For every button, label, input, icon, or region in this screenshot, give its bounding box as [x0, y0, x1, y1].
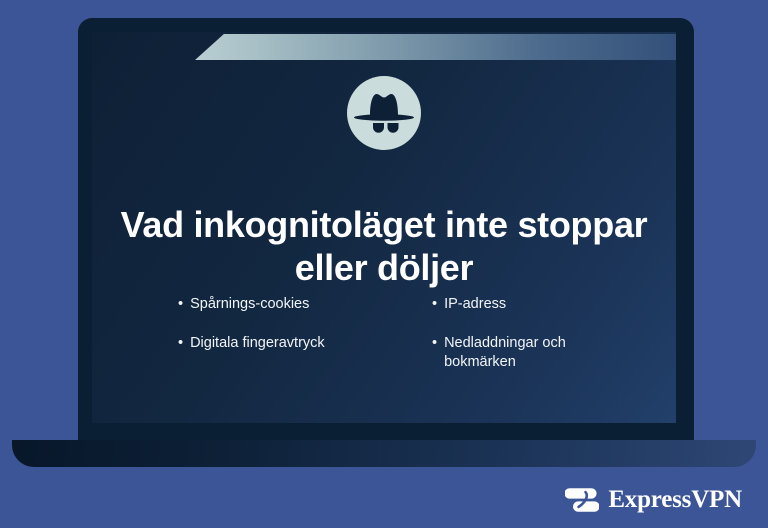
list-item: • Nedladdningar och bokmärken — [432, 334, 638, 373]
expressvpn-wordmark: ExpressVPN — [608, 486, 742, 514]
bullet-column-left: • Spårnings-cookies • Digitala fingeravt… — [178, 295, 384, 392]
bullet-column-right: • IP-adress • Nedladdningar och bokmärke… — [432, 295, 638, 392]
accent-bar-decoration — [195, 34, 676, 60]
list-item-label: Spårnings-cookies — [190, 295, 384, 315]
laptop-base — [12, 440, 756, 467]
bullet-marker-icon: • — [178, 334, 183, 354]
bullet-list-container: • Spårnings-cookies • Digitala fingeravt… — [178, 295, 638, 392]
list-item: • IP-adress — [432, 295, 638, 315]
list-item: • Digitala fingeravtryck — [178, 334, 384, 354]
list-item: • Spårnings-cookies — [178, 295, 384, 315]
list-item-label: IP-adress — [444, 295, 638, 315]
expressvpn-brand-lockup: ExpressVPN — [565, 486, 742, 514]
page-title: Vad inkognitoläget inte stoppar eller dö… — [114, 204, 654, 289]
bullet-marker-icon: • — [432, 295, 437, 315]
slide-canvas: Vad inkognitoläget inte stoppar eller dö… — [0, 0, 768, 528]
bullet-marker-icon: • — [432, 334, 437, 354]
laptop-screen: Vad inkognitoläget inte stoppar eller dö… — [92, 32, 676, 423]
incognito-icon — [343, 72, 425, 154]
bullet-marker-icon: • — [178, 295, 183, 315]
list-item-label: Digitala fingeravtryck — [190, 334, 384, 354]
expressvpn-logo-mark-icon — [565, 486, 599, 514]
list-item-label: Nedladdningar och bokmärken — [444, 334, 638, 373]
